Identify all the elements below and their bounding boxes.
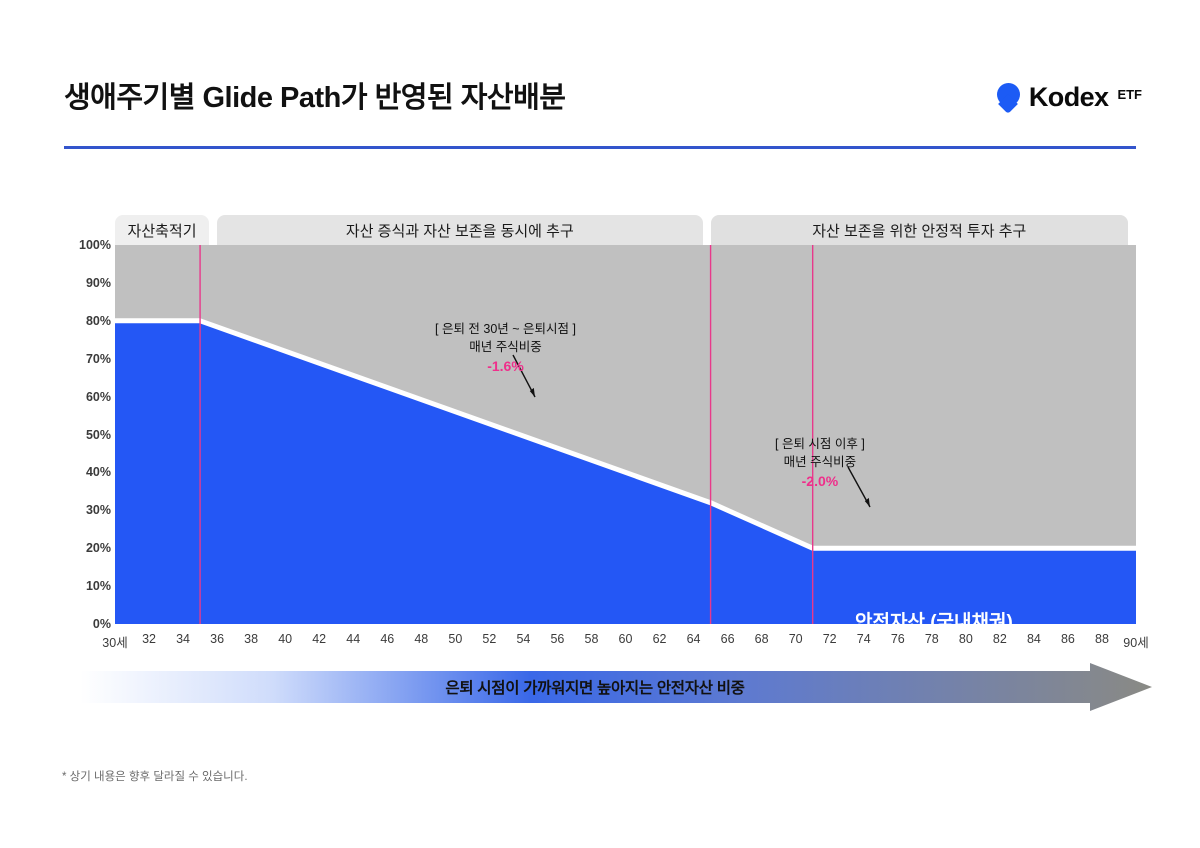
glide-path-chart: 0%10%20%30%40%50%60%70%80%90%100% 위험자산 (… bbox=[64, 240, 1144, 640]
x-axis-tick: 80 bbox=[959, 632, 973, 646]
phase-tab-label: 자산 증식과 자산 보존을 동시에 추구 bbox=[346, 220, 574, 241]
annotation-value: -1.6% bbox=[435, 356, 576, 376]
x-axis-tick: 40 bbox=[278, 632, 292, 646]
x-axis-tick: 70 bbox=[789, 632, 803, 646]
x-axis-tick: 84 bbox=[1027, 632, 1041, 646]
y-axis-tick: 40% bbox=[64, 465, 111, 479]
y-axis-tick: 100% bbox=[64, 238, 111, 252]
annotation-bracket: [ 은퇴 전 30년 ~ 은퇴시점 ] bbox=[435, 320, 576, 338]
x-axis-tick: 82 bbox=[993, 632, 1007, 646]
x-axis-tick: 48 bbox=[414, 632, 428, 646]
x-axis-tick: 46 bbox=[380, 632, 394, 646]
annotation-pre-retirement: [ 은퇴 전 30년 ~ 은퇴시점 ] 매년 주식비중 -1.6% bbox=[435, 320, 576, 377]
y-axis-tick: 30% bbox=[64, 503, 111, 517]
y-axis-tick: 50% bbox=[64, 428, 111, 442]
y-axis: 0%10%20%30%40%50%60%70%80%90%100% bbox=[64, 240, 111, 629]
x-axis-tick: 34 bbox=[176, 632, 190, 646]
x-axis-tick: 60 bbox=[619, 632, 633, 646]
footnote: * 상기 내용은 향후 달라질 수 있습니다. bbox=[62, 768, 248, 784]
page-title: 생애주기별 Glide Path가 반영된 자산배분 bbox=[64, 74, 565, 116]
x-axis-tick: 32 bbox=[142, 632, 156, 646]
trend-arrow-banner: 은퇴 시점이 가까워지면 높아지는 안전자산 비중 bbox=[80, 663, 1152, 711]
x-axis-tick: 72 bbox=[823, 632, 837, 646]
x-axis-tick: 38 bbox=[244, 632, 258, 646]
x-axis-tick: 66 bbox=[721, 632, 735, 646]
brand-logo: Kodex ETF bbox=[997, 82, 1142, 113]
x-axis-tick: 52 bbox=[482, 632, 496, 646]
y-axis-tick: 70% bbox=[64, 352, 111, 366]
x-axis-tick: 54 bbox=[516, 632, 530, 646]
y-axis-tick: 80% bbox=[64, 314, 111, 328]
y-axis-tick: 0% bbox=[64, 617, 111, 631]
brand-name: Kodex bbox=[1029, 82, 1109, 113]
x-axis-tick: 30세 bbox=[102, 632, 127, 651]
phase-tab-label: 자산축적기 bbox=[128, 220, 197, 241]
y-axis-tick: 60% bbox=[64, 390, 111, 404]
x-axis-tick: 56 bbox=[550, 632, 564, 646]
x-axis-tick: 58 bbox=[585, 632, 599, 646]
x-axis-tick: 50 bbox=[448, 632, 462, 646]
x-axis-tick: 86 bbox=[1061, 632, 1075, 646]
area-label-risky: 위험자산 (글로벌주식) bbox=[280, 765, 455, 792]
x-axis-tick: 76 bbox=[891, 632, 905, 646]
x-axis-tick: 78 bbox=[925, 632, 939, 646]
y-axis-tick: 10% bbox=[64, 579, 111, 593]
x-axis-tick: 36 bbox=[210, 632, 224, 646]
x-axis-tick: 74 bbox=[857, 632, 871, 646]
annotation-line2: 매년 주식비중 bbox=[775, 453, 865, 471]
page-header: 생애주기별 Glide Path가 반영된 자산배분 Kodex ETF bbox=[0, 0, 1200, 150]
y-axis-tick: 20% bbox=[64, 541, 111, 555]
banner-text: 은퇴 시점이 가까워지면 높아지는 안전자산 비중 bbox=[80, 663, 1110, 711]
annotation-value: -2.0% bbox=[775, 471, 865, 491]
annotation-line2: 매년 주식비중 bbox=[435, 338, 576, 356]
phase-tab-label: 자산 보존을 위한 안정적 투자 추구 bbox=[812, 220, 1026, 241]
stacked-area-svg bbox=[115, 245, 1136, 624]
x-axis-tick: 62 bbox=[653, 632, 667, 646]
x-axis: 30세3234363840424446485052545658606264666… bbox=[115, 628, 1136, 654]
annotation-bracket: [ 은퇴 시점 이후 ] bbox=[775, 435, 865, 453]
x-axis-tick: 64 bbox=[687, 632, 701, 646]
brand-sub-label: ETF bbox=[1117, 87, 1142, 102]
header-divider bbox=[64, 146, 1136, 149]
x-axis-tick: 42 bbox=[312, 632, 326, 646]
x-axis-tick: 88 bbox=[1095, 632, 1109, 646]
x-axis-tick: 90세 bbox=[1123, 632, 1148, 651]
x-axis-tick: 68 bbox=[755, 632, 769, 646]
plot-area: 위험자산 (글로벌주식) 안전자산 (국내채권) [ 은퇴 전 30년 ~ 은퇴… bbox=[115, 245, 1136, 624]
x-axis-tick: 44 bbox=[346, 632, 360, 646]
annotation-post-retirement: [ 은퇴 시점 이후 ] 매년 주식비중 -2.0% bbox=[775, 435, 865, 492]
y-axis-tick: 90% bbox=[64, 276, 111, 290]
location-pin-icon bbox=[997, 83, 1020, 113]
